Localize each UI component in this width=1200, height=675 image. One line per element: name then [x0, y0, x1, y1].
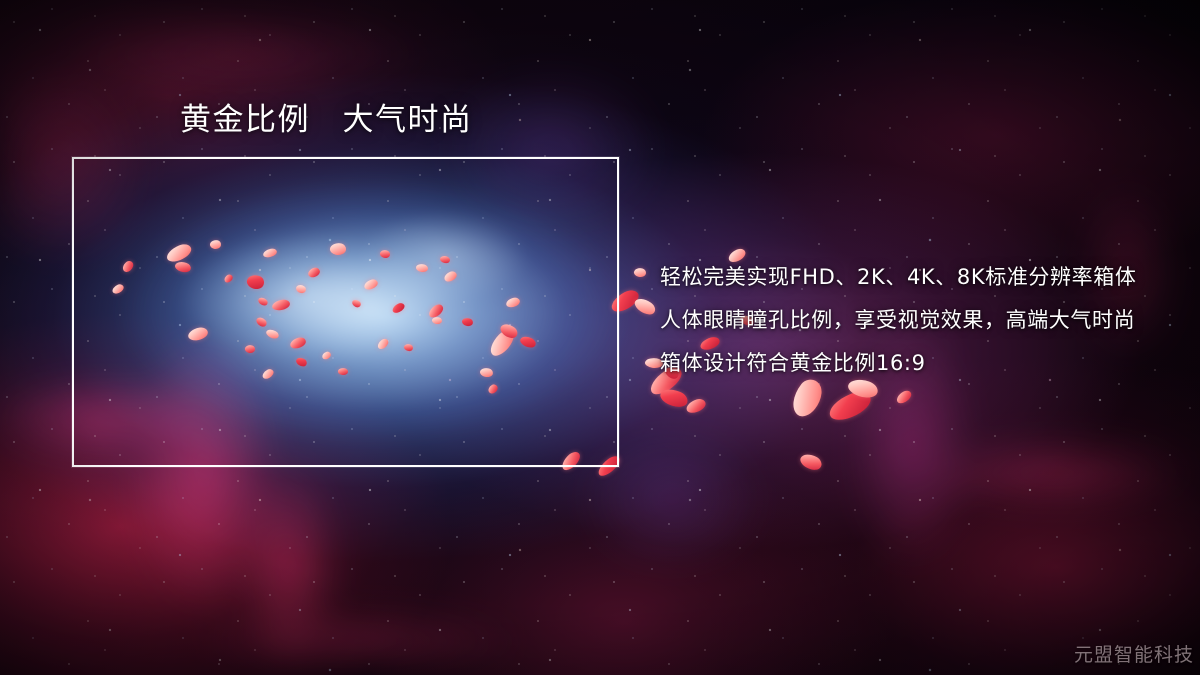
body-line-1: 轻松完美实现FHD、2K、4K、8K标准分辨率箱体 [660, 256, 1180, 299]
petal [895, 389, 914, 406]
slide-canvas: 黄金比例 大气时尚 轻松完美实现FHD、2K、4K、8K标准分辨率箱体 人体眼睛… [0, 0, 1200, 675]
petal [633, 267, 647, 279]
body-line-3: 箱体设计符合黄金比例16:9 [660, 342, 1180, 385]
page-title: 黄金比例 大气时尚 [180, 100, 473, 140]
body-line-2: 人体眼睛瞳孔比例，享受视觉效果，高端大气时尚 [660, 299, 1180, 342]
petal [825, 388, 874, 425]
petal [798, 451, 824, 474]
petal [685, 397, 708, 415]
image-frame[interactable] [72, 157, 619, 467]
watermark: 元盟智能科技 [1074, 640, 1194, 667]
petal [632, 295, 658, 318]
body-text-block: 轻松完美实现FHD、2K、4K、8K标准分辨率箱体 人体眼睛瞳孔比例，享受视觉效… [660, 256, 1180, 385]
petal [658, 385, 690, 410]
